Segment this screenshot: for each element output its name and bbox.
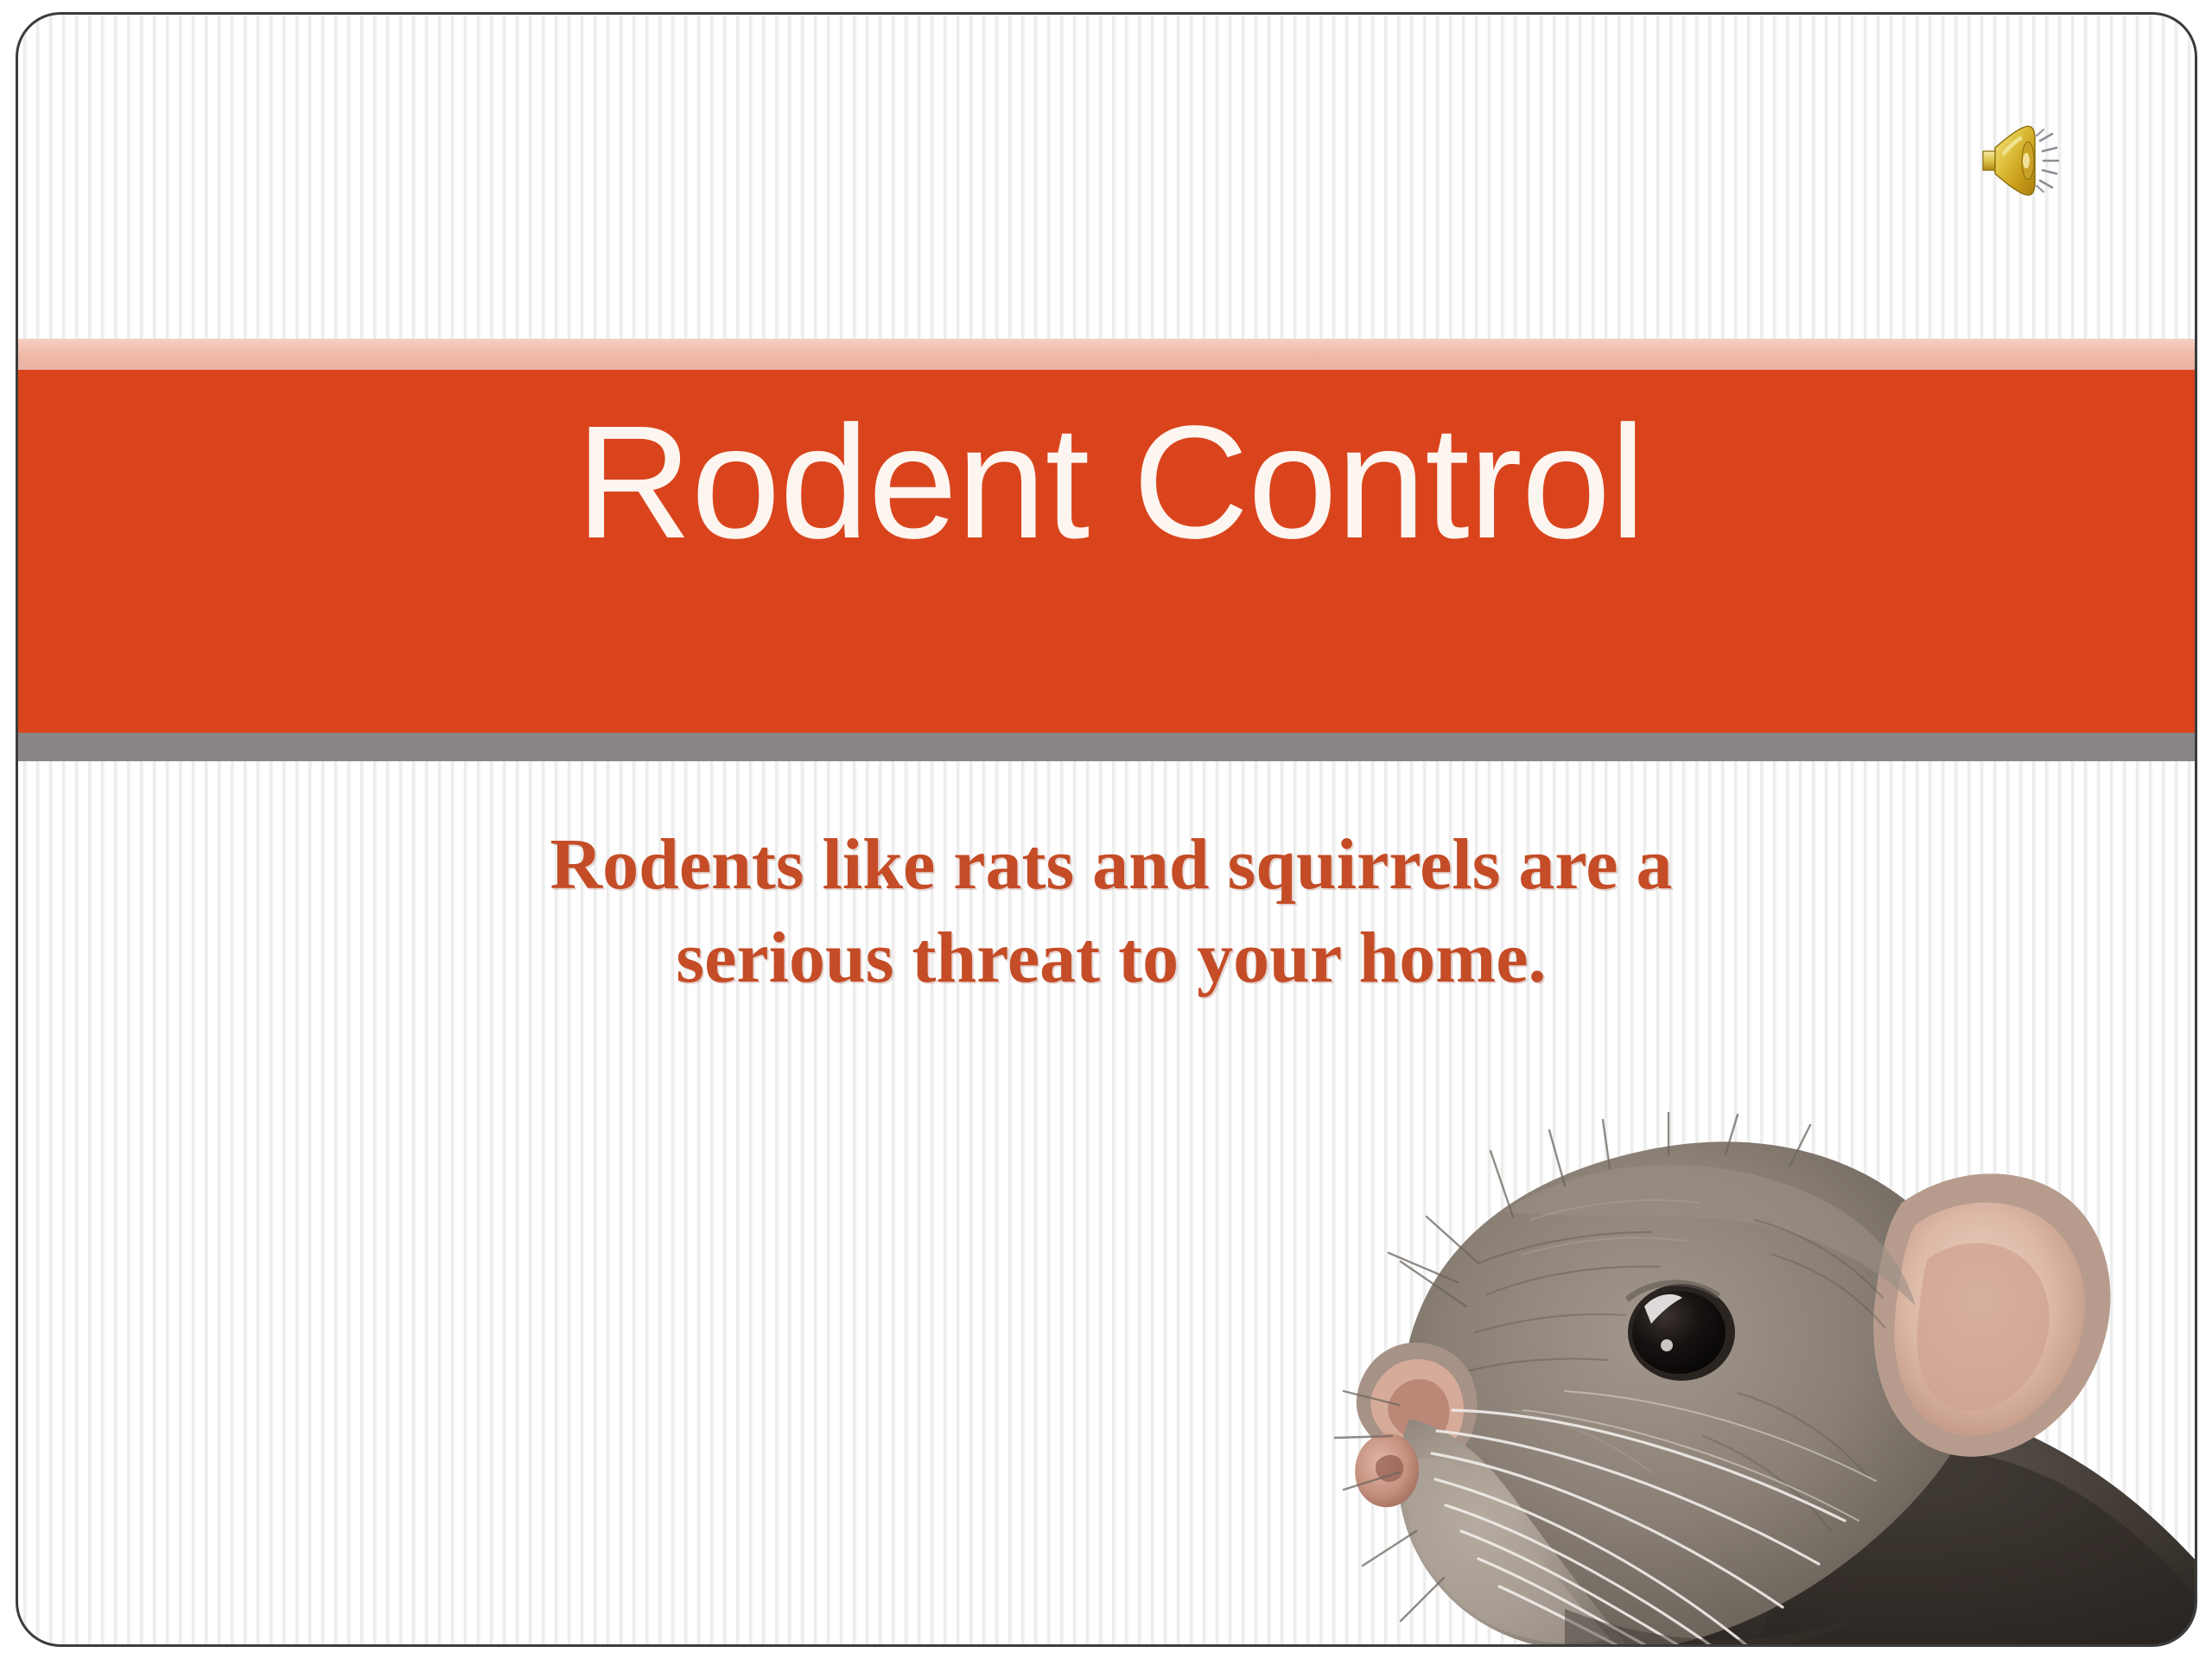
- speaker-icon[interactable]: [1976, 118, 2071, 200]
- title-band: Rodent Control: [16, 370, 2197, 733]
- presentation-slide: Rodent Control Rodents like rats and squ…: [16, 12, 2197, 1647]
- subtitle-line-1: Rodents like rats and squirrels are a: [338, 818, 1885, 912]
- accent-band-pink: [16, 339, 2197, 370]
- rat-head-photo: [1306, 1047, 2197, 1647]
- subtitle-line-2: serious threat to your home.: [338, 912, 1885, 1005]
- slide-canvas: Rodent Control Rodents like rats and squ…: [0, 0, 2212, 1659]
- title-band-group: Rodent Control: [16, 339, 2197, 761]
- page-title: Rodent Control: [16, 403, 2197, 563]
- accent-band-gray: [16, 733, 2197, 761]
- slide-subtitle: Rodents like rats and squirrels are a se…: [338, 818, 1885, 1004]
